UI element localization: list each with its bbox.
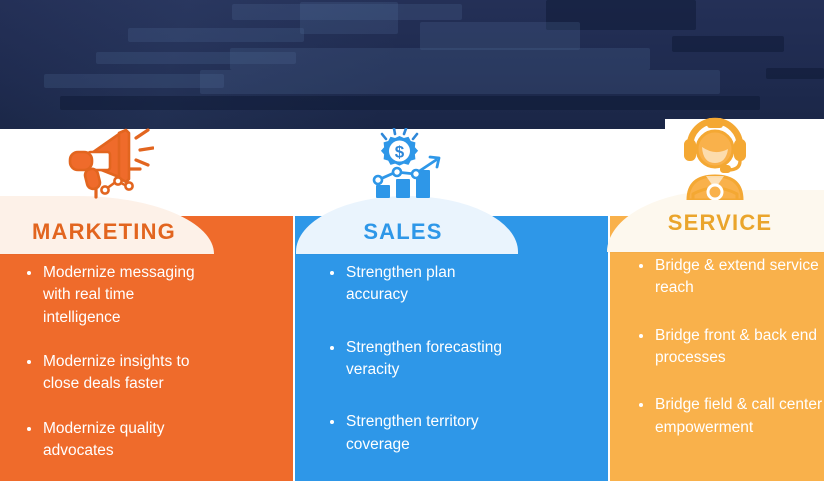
bullet-list-marketing: Modernize messaging with real time intel…: [25, 262, 205, 481]
bullet-list-service: Bridge & extend service reach Bridge fro…: [637, 255, 824, 464]
dollar-coin-growth-chart-icon: $: [370, 128, 444, 205]
panel-divider: [293, 216, 295, 481]
list-item: Modernize insights to close deals faster: [25, 351, 205, 396]
banner-ghost-shape: [300, 2, 398, 34]
top-banner: [0, 0, 824, 129]
list-item: Bridge & extend service reach: [637, 255, 824, 300]
banner-ghost-shape: [200, 70, 720, 94]
headset-agent-icon: [682, 116, 748, 205]
banner-ghost-shape: [44, 74, 224, 88]
panel-divider: [608, 216, 610, 481]
banner-ghost-shape: [230, 48, 650, 70]
list-item: Strengthen forecasting veracity: [328, 337, 508, 382]
column-title-marketing: MARKETING: [0, 221, 214, 243]
list-item: Strengthen plan accuracy: [328, 262, 508, 307]
banner-ghost-shape: [420, 22, 580, 50]
banner-ghost-shape: [672, 36, 784, 52]
list-item: Bridge field & call center empowerment: [637, 394, 824, 439]
banner-ghost-shape: [128, 28, 304, 42]
list-item: Strengthen territory coverage: [328, 411, 508, 456]
banner-ghost-shape: [60, 96, 760, 110]
list-item: Bridge front & back end processes: [637, 325, 824, 370]
column-title-sales: SALES: [292, 221, 514, 243]
banner-ghost-shape: [766, 68, 824, 79]
infographic-stage: MARKETING SALES SERVICE: [0, 0, 824, 481]
megaphone-chart-icon: [62, 124, 154, 207]
bullet-list-sales: Strengthen plan accuracy Strengthen fore…: [328, 262, 508, 481]
list-item: Modernize messaging with real time intel…: [25, 262, 205, 329]
column-title-service: SERVICE: [609, 212, 824, 234]
svg-text:$: $: [395, 143, 405, 162]
list-item: Modernize quality advocates: [25, 418, 205, 463]
